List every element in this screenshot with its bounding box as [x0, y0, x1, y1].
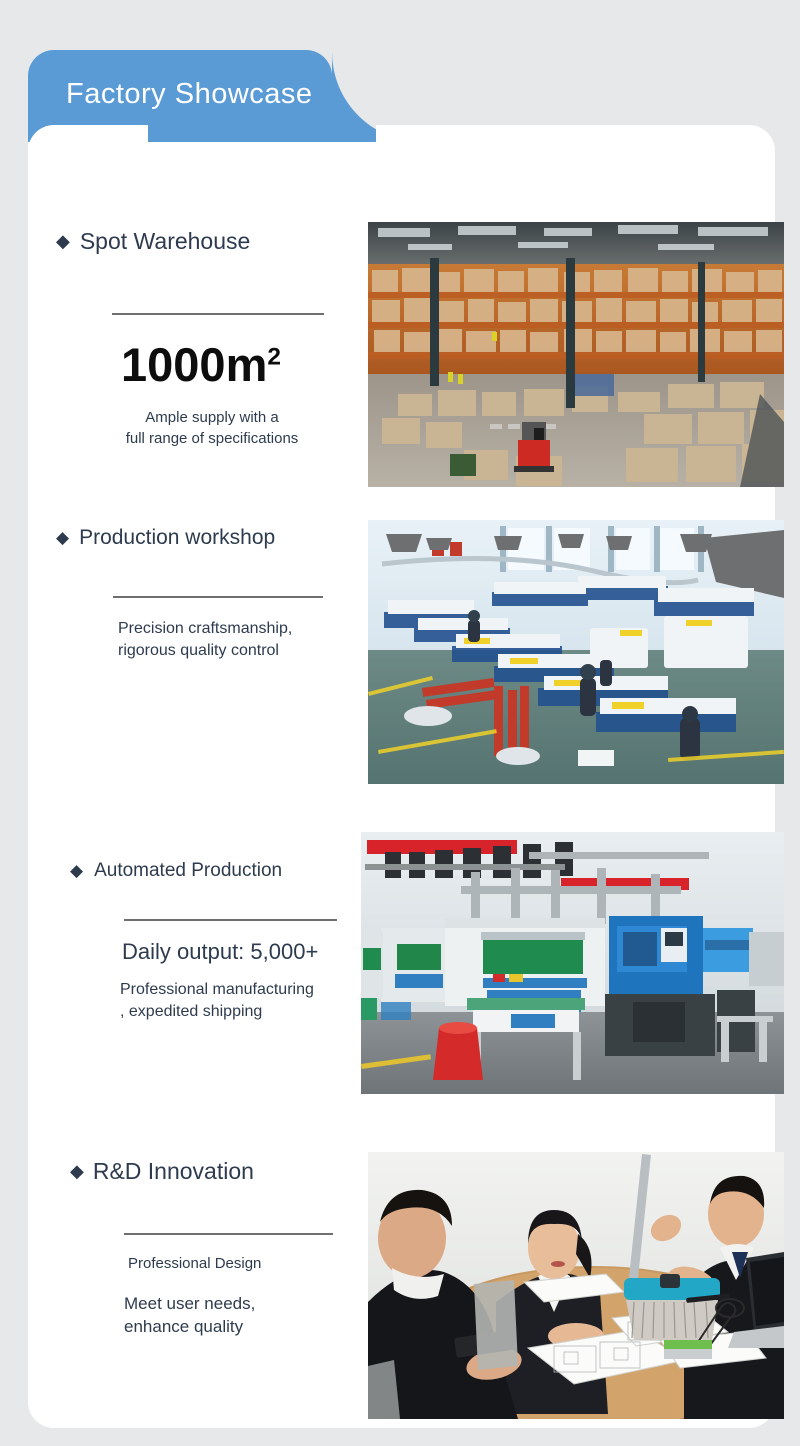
description-line-1: Professional manufacturing	[120, 979, 370, 1001]
section-description: Precision craftsmanship, rigorous qualit…	[118, 618, 356, 662]
section-description: Professional manufacturing , expedited s…	[120, 979, 370, 1023]
section-spot-warehouse: ◆ Spot Warehouse 1000m2 Ample supply wit…	[56, 228, 356, 449]
section-heading: ◆ Automated Production	[70, 860, 370, 882]
section-rd-innovation: ◆ R&D Innovation Professional Design Mee…	[70, 1158, 370, 1339]
factory-showcase-page: Factory Showcase ◆ Spot Warehouse 1000m2…	[28, 50, 775, 1428]
page-title: Factory Showcase	[66, 74, 313, 114]
section-heading: ◆ Spot Warehouse	[56, 228, 356, 255]
section-subtitle: Professional Design	[128, 1255, 370, 1272]
diamond-bullet-icon: ◆	[56, 528, 69, 548]
diamond-bullet-icon: ◆	[56, 231, 70, 252]
section-title: Automated Production	[94, 860, 282, 882]
stat-number: 1000m	[121, 338, 267, 391]
diamond-bullet-icon: ◆	[70, 1161, 84, 1182]
photo-automated-production	[361, 832, 784, 1094]
section-description: Meet user needs, enhance quality	[124, 1292, 370, 1339]
section-title: Production workshop	[79, 526, 275, 550]
section-heading: ◆ R&D Innovation	[70, 1158, 370, 1185]
header-tab-curve	[332, 50, 376, 142]
description-line-2: rigorous quality control	[118, 640, 356, 662]
diamond-bullet-icon: ◆	[70, 861, 83, 881]
stat-superscript: 2	[267, 343, 281, 370]
description-line-1: Precision craftsmanship,	[118, 618, 356, 640]
stat-value: Daily output: 5,000+	[122, 939, 370, 965]
section-divider	[124, 1233, 333, 1235]
card-top-left-corner	[28, 125, 148, 185]
description-line-2: enhance quality	[124, 1315, 370, 1338]
description-line-1: Ample supply with a	[68, 408, 356, 429]
section-title: R&D Innovation	[93, 1158, 254, 1185]
section-divider	[124, 919, 337, 921]
section-automated-production: ◆ Automated Production Daily output: 5,0…	[70, 860, 370, 1023]
section-title: Spot Warehouse	[80, 228, 250, 255]
section-heading: ◆ Production workshop	[56, 526, 356, 550]
section-divider	[112, 313, 324, 315]
photo-spot-warehouse	[368, 222, 784, 487]
photo-production-workshop	[368, 520, 784, 784]
section-divider	[113, 596, 323, 598]
section-description: Ample supply with a full range of specif…	[56, 408, 356, 449]
section-production-workshop: ◆ Production workshop Precision craftsma…	[56, 526, 356, 662]
photo-rd-innovation	[368, 1152, 784, 1419]
description-line-2: full range of specifications	[68, 429, 356, 450]
stat-value: 1000m2	[56, 337, 356, 392]
description-line-1: Meet user needs,	[124, 1292, 370, 1315]
description-line-2: , expedited shipping	[120, 1001, 370, 1023]
